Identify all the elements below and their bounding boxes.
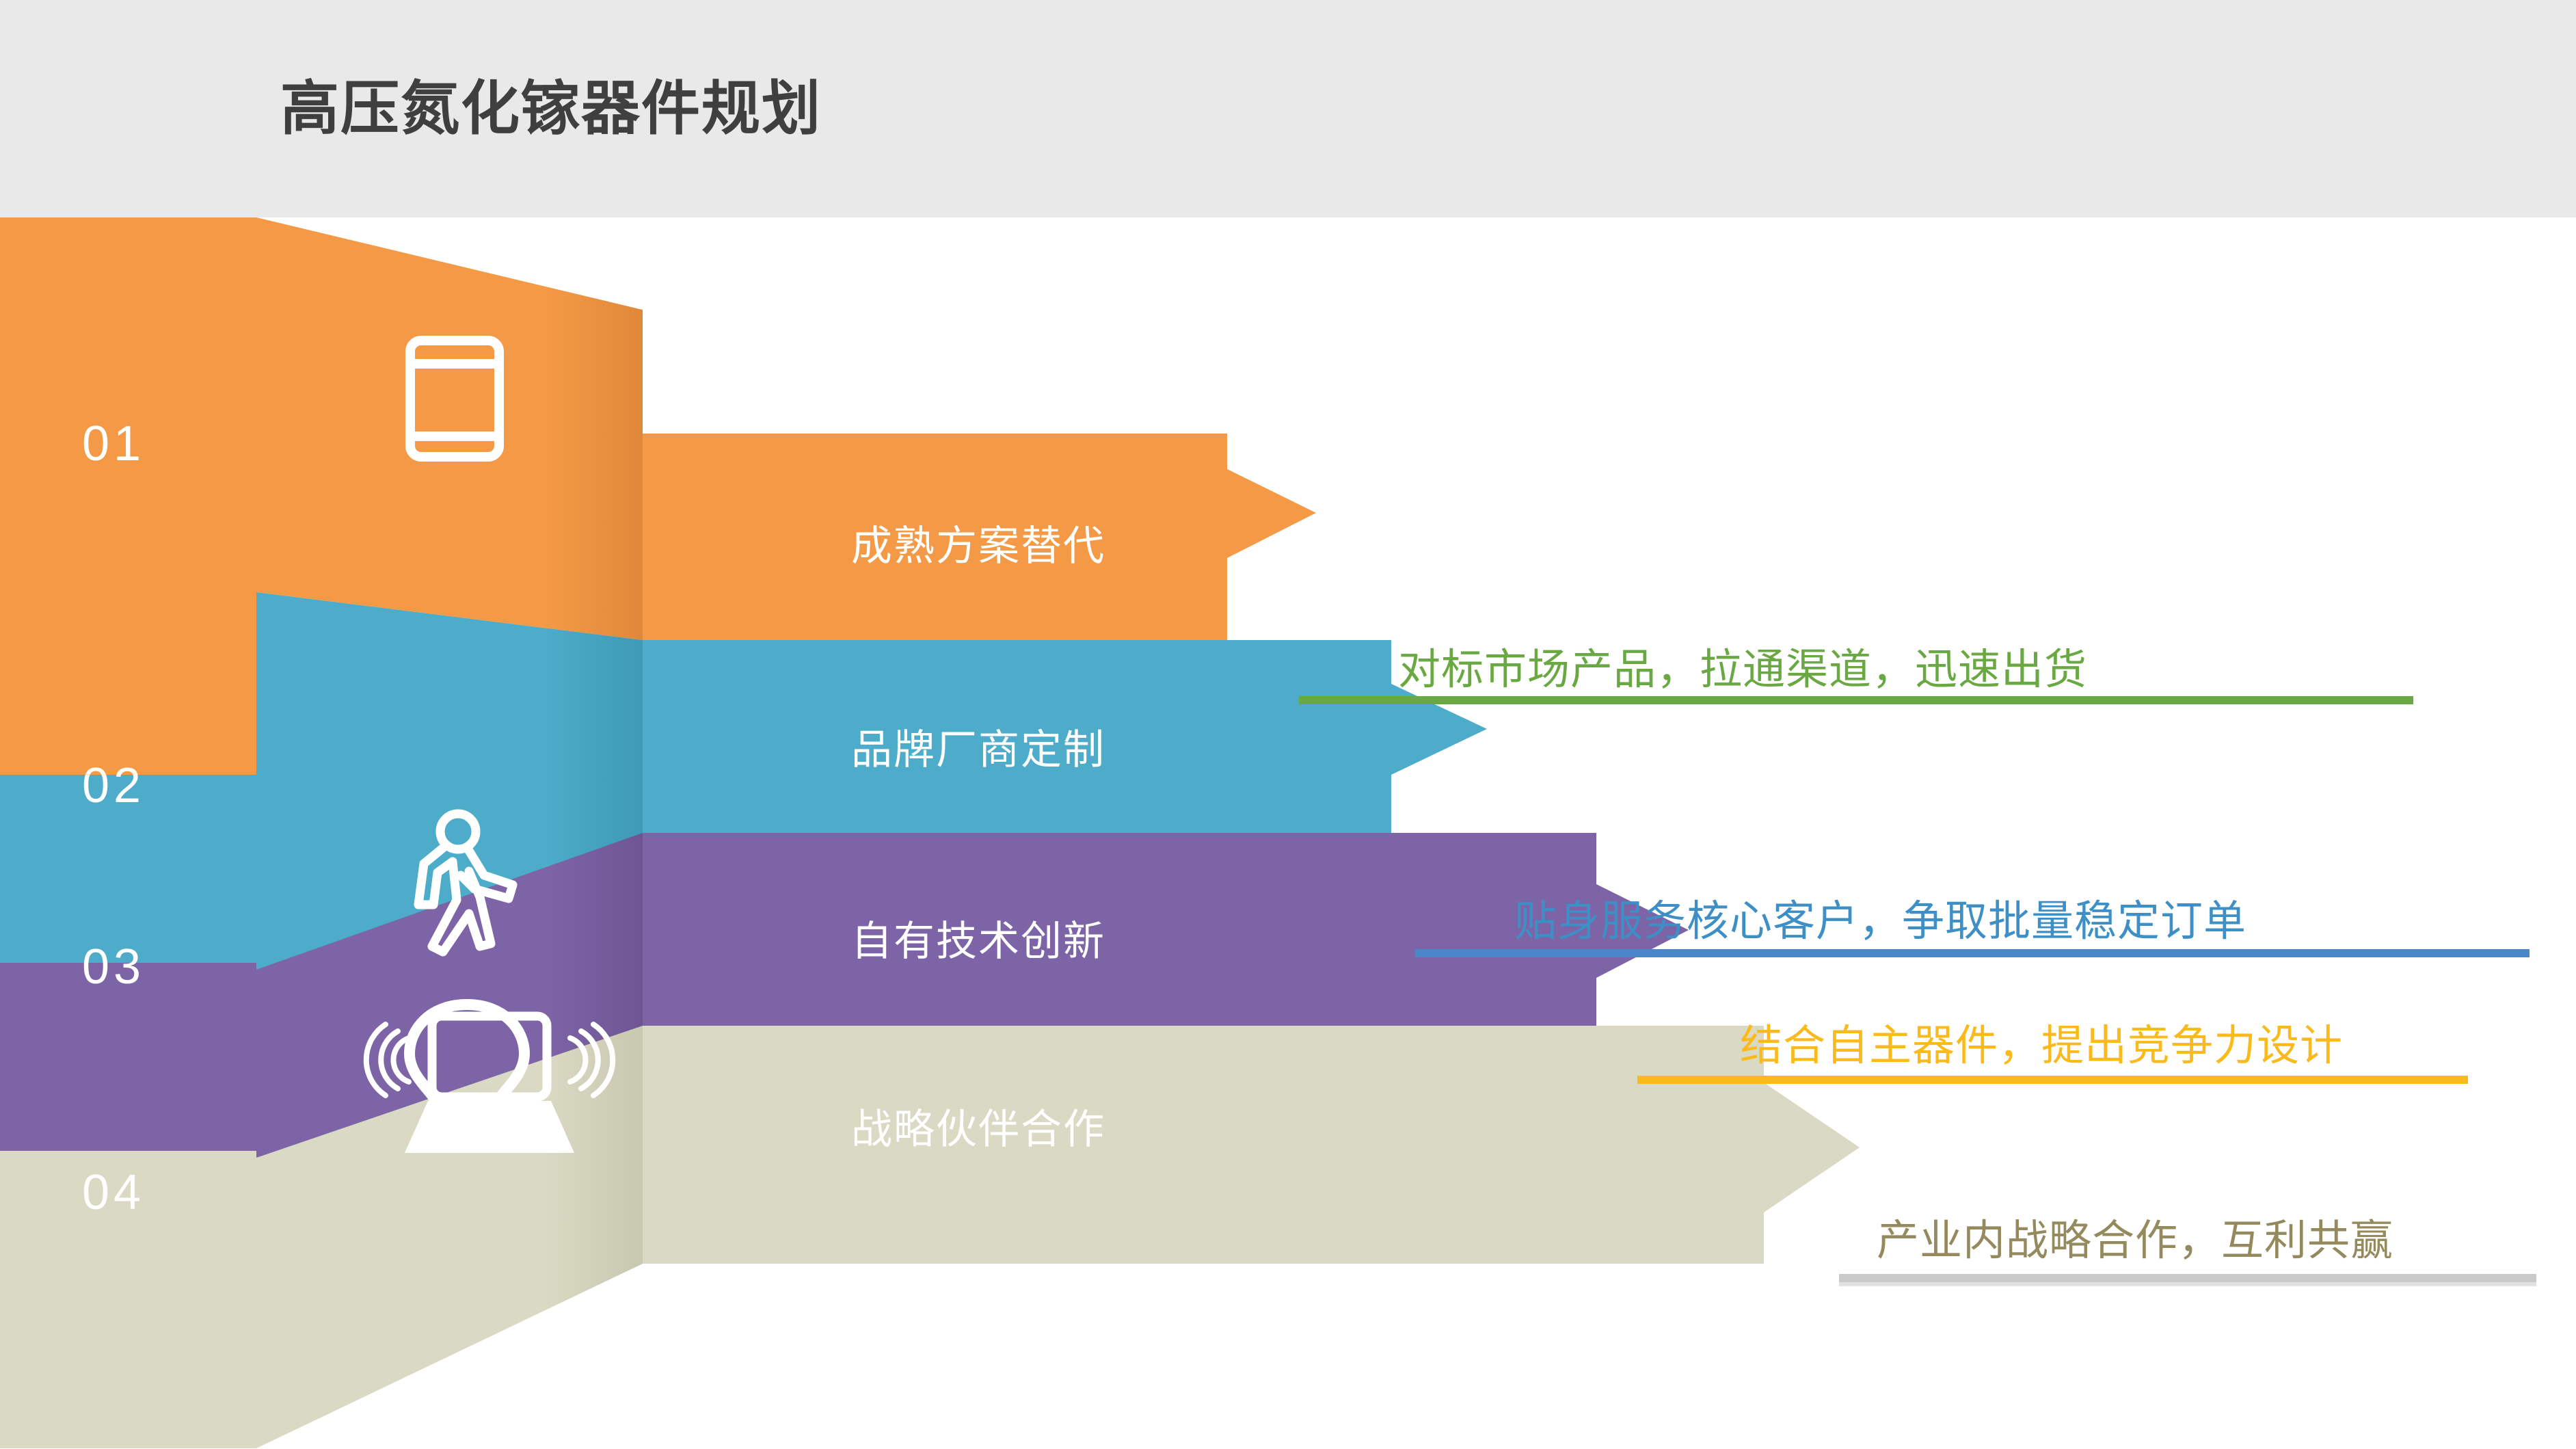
page-title: 高压氮化镓器件规划 — [280, 60, 822, 146]
step-desc-01: 对标市场产品，拉通渠道，迅速出货 — [1398, 635, 2087, 696]
step-number-03: 03 — [82, 939, 145, 995]
step-desc-02: 贴身服务核心客户，争取批量稳定订单 — [1514, 886, 2246, 948]
step-title-01: 成熟方案替代 — [851, 513, 1105, 572]
step-title-03: 自有技术创新 — [851, 908, 1105, 968]
step-title-02: 品牌厂商定制 — [851, 717, 1105, 776]
step-title-04: 战略伙伴合作 — [851, 1096, 1105, 1156]
header-band: 高压氮化镓器件规划 — [0, 0, 2576, 217]
step-number-04: 04 — [82, 1165, 145, 1221]
step-number-01: 01 — [82, 416, 145, 472]
step-number-02: 02 — [82, 758, 145, 814]
step-desc-03: 结合自主器件，提出竞争力设计 — [1740, 1011, 2343, 1072]
process-diagram: 01 成熟方案替代 对标市场产品，拉通渠道，迅速出货 02 品牌厂商定制 贴身服… — [0, 217, 2576, 1449]
step-desc-04: 产业内战略合作，互利共赢 — [1877, 1206, 2393, 1267]
